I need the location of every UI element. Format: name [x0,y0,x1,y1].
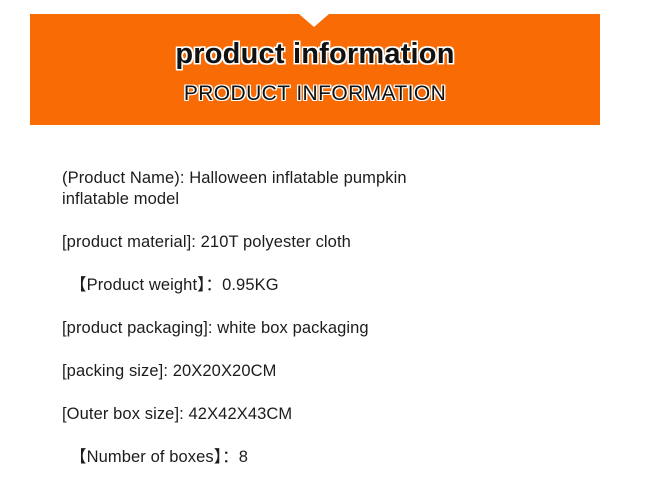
product-information-banner: product information PRODUCT INFORMATION [30,14,600,125]
spec-line-product-weight: 【Product weight】：0.95KG [62,275,622,296]
spec-line-product-material: [product material]: 210T polyester cloth [62,232,622,253]
product-spec-list: (Product Name): Halloween inflatable pum… [62,168,622,468]
banner-subtitle: PRODUCT INFORMATION [30,83,600,104]
triangle-down-notch-icon [299,14,329,27]
spec-line-number-of-boxes: 【Number of boxes】：8 [62,447,622,468]
banner-title: product information [30,40,600,69]
spec-line-outer-box-size: [Outer box size]: 42X42X43CM [62,404,622,425]
spec-line-product-name: (Product Name): Halloween inflatable pum… [62,168,462,210]
spec-line-packing-size: [packing size]: 20X20X20CM [62,361,622,382]
product-information-page: product information PRODUCT INFORMATION … [0,0,669,488]
spec-line-product-packaging: [product packaging]: white box packaging [62,318,622,339]
